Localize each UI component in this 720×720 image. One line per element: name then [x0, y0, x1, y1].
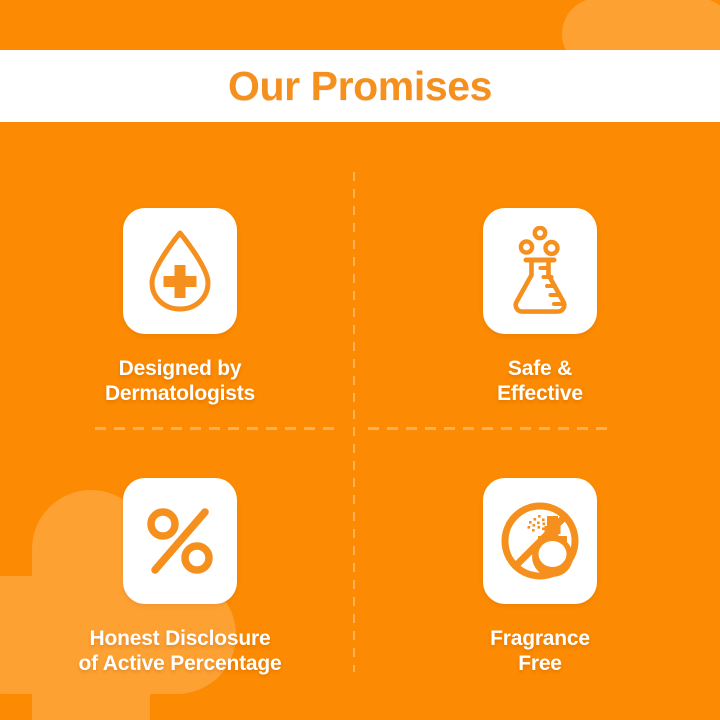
promise-item-safe-and-effective: Safe & Effective [360, 160, 720, 430]
icon-card [483, 478, 597, 604]
icon-card [483, 208, 597, 334]
icon-card [123, 478, 237, 604]
promise-label: Honest Disclosure of Active Percentage [79, 626, 282, 676]
no-fragrance-icon [498, 499, 582, 583]
promise-item-fragrance-free: Fragrance Free [360, 430, 720, 700]
flask-icon [504, 226, 576, 316]
promise-item-designed-by-dermatologists: Designed by Dermatologists [0, 160, 360, 430]
promise-label: Fragrance Free [490, 626, 590, 676]
promise-item-honest-disclosure: Honest Disclosure of Active Percentage [0, 430, 360, 700]
promise-grid: Designed by Dermatologists Safe & Ef [0, 160, 720, 700]
promise-label: Safe & Effective [497, 356, 583, 406]
percent-icon [143, 504, 217, 578]
promises-poster: Our Promises Designed by Dermatologists [0, 0, 720, 720]
icon-card [123, 208, 237, 334]
page-title: Our Promises [228, 66, 492, 107]
promise-label: Designed by Dermatologists [105, 356, 255, 406]
header-band: Our Promises [0, 50, 720, 122]
droplet-plus-icon [141, 227, 219, 315]
